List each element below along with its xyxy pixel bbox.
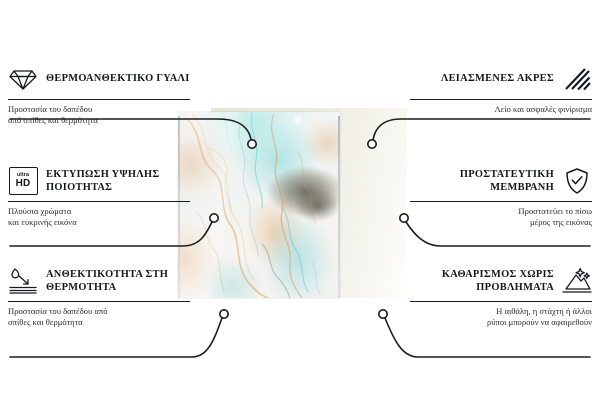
feature-description-line: Προστασία του δαπέδου <box>8 104 190 115</box>
feature-description-line: Λείο και ασφαλές φινίρισμα <box>410 104 592 115</box>
feature-title: ΚΑΘΑΡΙΣΜΟΣ ΧΩΡΙΣ ΠΡΟΒΛΗΜΑΤΑ <box>410 268 554 295</box>
feature-description-line: Προστασία του δαπέδου από <box>8 306 190 317</box>
feature-description: Πλούσια χρώματα και ευκρινής εικόνα <box>8 206 190 229</box>
product-image <box>178 108 410 300</box>
feature-description: Η αιθάλη, η στάχτη ή άλλοι ρύποι μπορούν… <box>410 306 592 329</box>
feature-title: ΘΕΡΜΟΑΝΘΕΚΤΙΚΟ ΓΥΑΛΙ <box>46 72 190 86</box>
feature-divider <box>8 99 190 100</box>
glass-splashback-panel <box>178 112 340 298</box>
feature-divider <box>410 201 592 202</box>
feature-description-line: Προστατεύει το πίσω <box>410 206 592 217</box>
connector-dot <box>220 310 228 318</box>
feature-description-line: από σπίθες και θερμότητα <box>8 115 190 126</box>
glass-sparkle-highlight <box>292 114 304 126</box>
sparkle-clean-icon <box>562 266 592 296</box>
feature-description-line: Η αιθάλη, η στάχτη ή άλλοι <box>410 306 592 317</box>
feature-description: Προστατεύει το πίσω μέρος της εικόνας <box>410 206 592 229</box>
feature-title: ΛΕΙΑΣΜΕΝΕΣ ΑΚΡΕΣ <box>410 72 554 86</box>
glass-edge-right <box>338 116 340 298</box>
feature-description: Προστασία του δαπέδου από σπίθες και θερ… <box>8 104 190 127</box>
feature-divider <box>8 301 190 302</box>
feature-description: Λείο και ασφαλές φινίρισμα <box>410 104 592 115</box>
feature-high-quality-print: ultra HD ΕΚΤΥΠΩΣΗ ΥΨΗΛΗΣ ΠΟΙΟΤΗΤΑΣ Πλούσ… <box>8 164 190 229</box>
feature-title: ΕΚΤΥΠΩΣΗ ΥΨΗΛΗΣ ΠΟΙΟΤΗΤΑΣ <box>46 168 190 195</box>
feature-divider <box>410 99 592 100</box>
feature-header: ΚΑΘΑΡΙΣΜΟΣ ΧΩΡΙΣ ΠΡΟΒΛΗΜΑΤΑ <box>410 264 592 298</box>
feature-title: ΑΝΘΕΚΤΙΚΟΤΗΤΑ ΣΤΗ ΘΕΡΜΟΤΗΤΑ <box>46 268 190 295</box>
feature-divider <box>410 301 592 302</box>
feature-title: ΠΡΟΣΤΑΤΕΥΤΙΚΗ ΜΕΜΒΡΑΝΗ <box>410 168 554 195</box>
feature-polished-edges: ΛΕΙΑΣΜΕΝΕΣ ΑΚΡΕΣ Λείο και ασφαλές φινίρι… <box>410 62 592 115</box>
glass-reflection <box>178 112 340 298</box>
feature-header: ΑΝΘΕΚΤΙΚΟΤΗΤΑ ΣΤΗ ΘΕΡΜΟΤΗΤΑ <box>8 264 190 298</box>
feature-header: ultra HD ΕΚΤΥΠΩΣΗ ΥΨΗΛΗΣ ΠΟΙΟΤΗΤΑΣ <box>8 164 190 198</box>
feature-header: ΠΡΟΣΤΑΤΕΥΤΙΚΗ ΜΕΜΒΡΑΝΗ <box>410 164 592 198</box>
feature-description-line: μέρος της εικόνας <box>410 217 592 228</box>
feature-description: Προστασία του δαπέδου από σπίθες και θερ… <box>8 306 190 329</box>
feature-heat-resistance: ΑΝΘΕΚΤΙΚΟΤΗΤΑ ΣΤΗ ΘΕΡΜΟΤΗΤΑ Προστασία το… <box>8 264 190 329</box>
feature-description-line: σπίθες και θερμότητα <box>8 317 190 328</box>
ultra-hd-icon-main-text: HD <box>16 179 31 189</box>
feature-divider <box>8 201 190 202</box>
feature-heat-resistant-glass: ΘΕΡΜΟΑΝΘΕΚΤΙΚΟ ΓΥΑΛΙ Προστασία του δαπέδ… <box>8 62 190 127</box>
diagonal-stripes-icon <box>562 64 592 94</box>
feature-description-line: και ευκρινής εικόνα <box>8 217 190 228</box>
feature-protective-membrane: ΠΡΟΣΤΑΤΕΥΤΙΚΗ ΜΕΜΒΡΑΝΗ Προστατεύει το πί… <box>410 164 592 229</box>
ultra-hd-icon: ultra HD <box>8 166 38 196</box>
feature-easy-cleaning: ΚΑΘΑΡΙΣΜΟΣ ΧΩΡΙΣ ΠΡΟΒΛΗΜΑΤΑ Η αιθάλη, η … <box>410 264 592 329</box>
feature-header: ΘΕΡΜΟΑΝΘΕΚΤΙΚΟ ΓΥΑΛΙ <box>8 62 190 96</box>
flame-deflect-icon <box>8 266 38 296</box>
feature-header: ΛΕΙΑΣΜΕΝΕΣ ΑΚΡΕΣ <box>410 62 592 96</box>
infographic-root: ΘΕΡΜΟΑΝΘΕΚΤΙΚΟ ΓΥΑΛΙ Προστασία του δαπέδ… <box>0 0 600 400</box>
diamond-icon <box>8 64 38 94</box>
connector-dot <box>379 310 387 318</box>
feature-description-line: ρύποι μπορούν να αφαιρεθούν <box>410 317 592 328</box>
feature-description-line: Πλούσια χρώματα <box>8 206 190 217</box>
shield-check-icon <box>562 166 592 196</box>
